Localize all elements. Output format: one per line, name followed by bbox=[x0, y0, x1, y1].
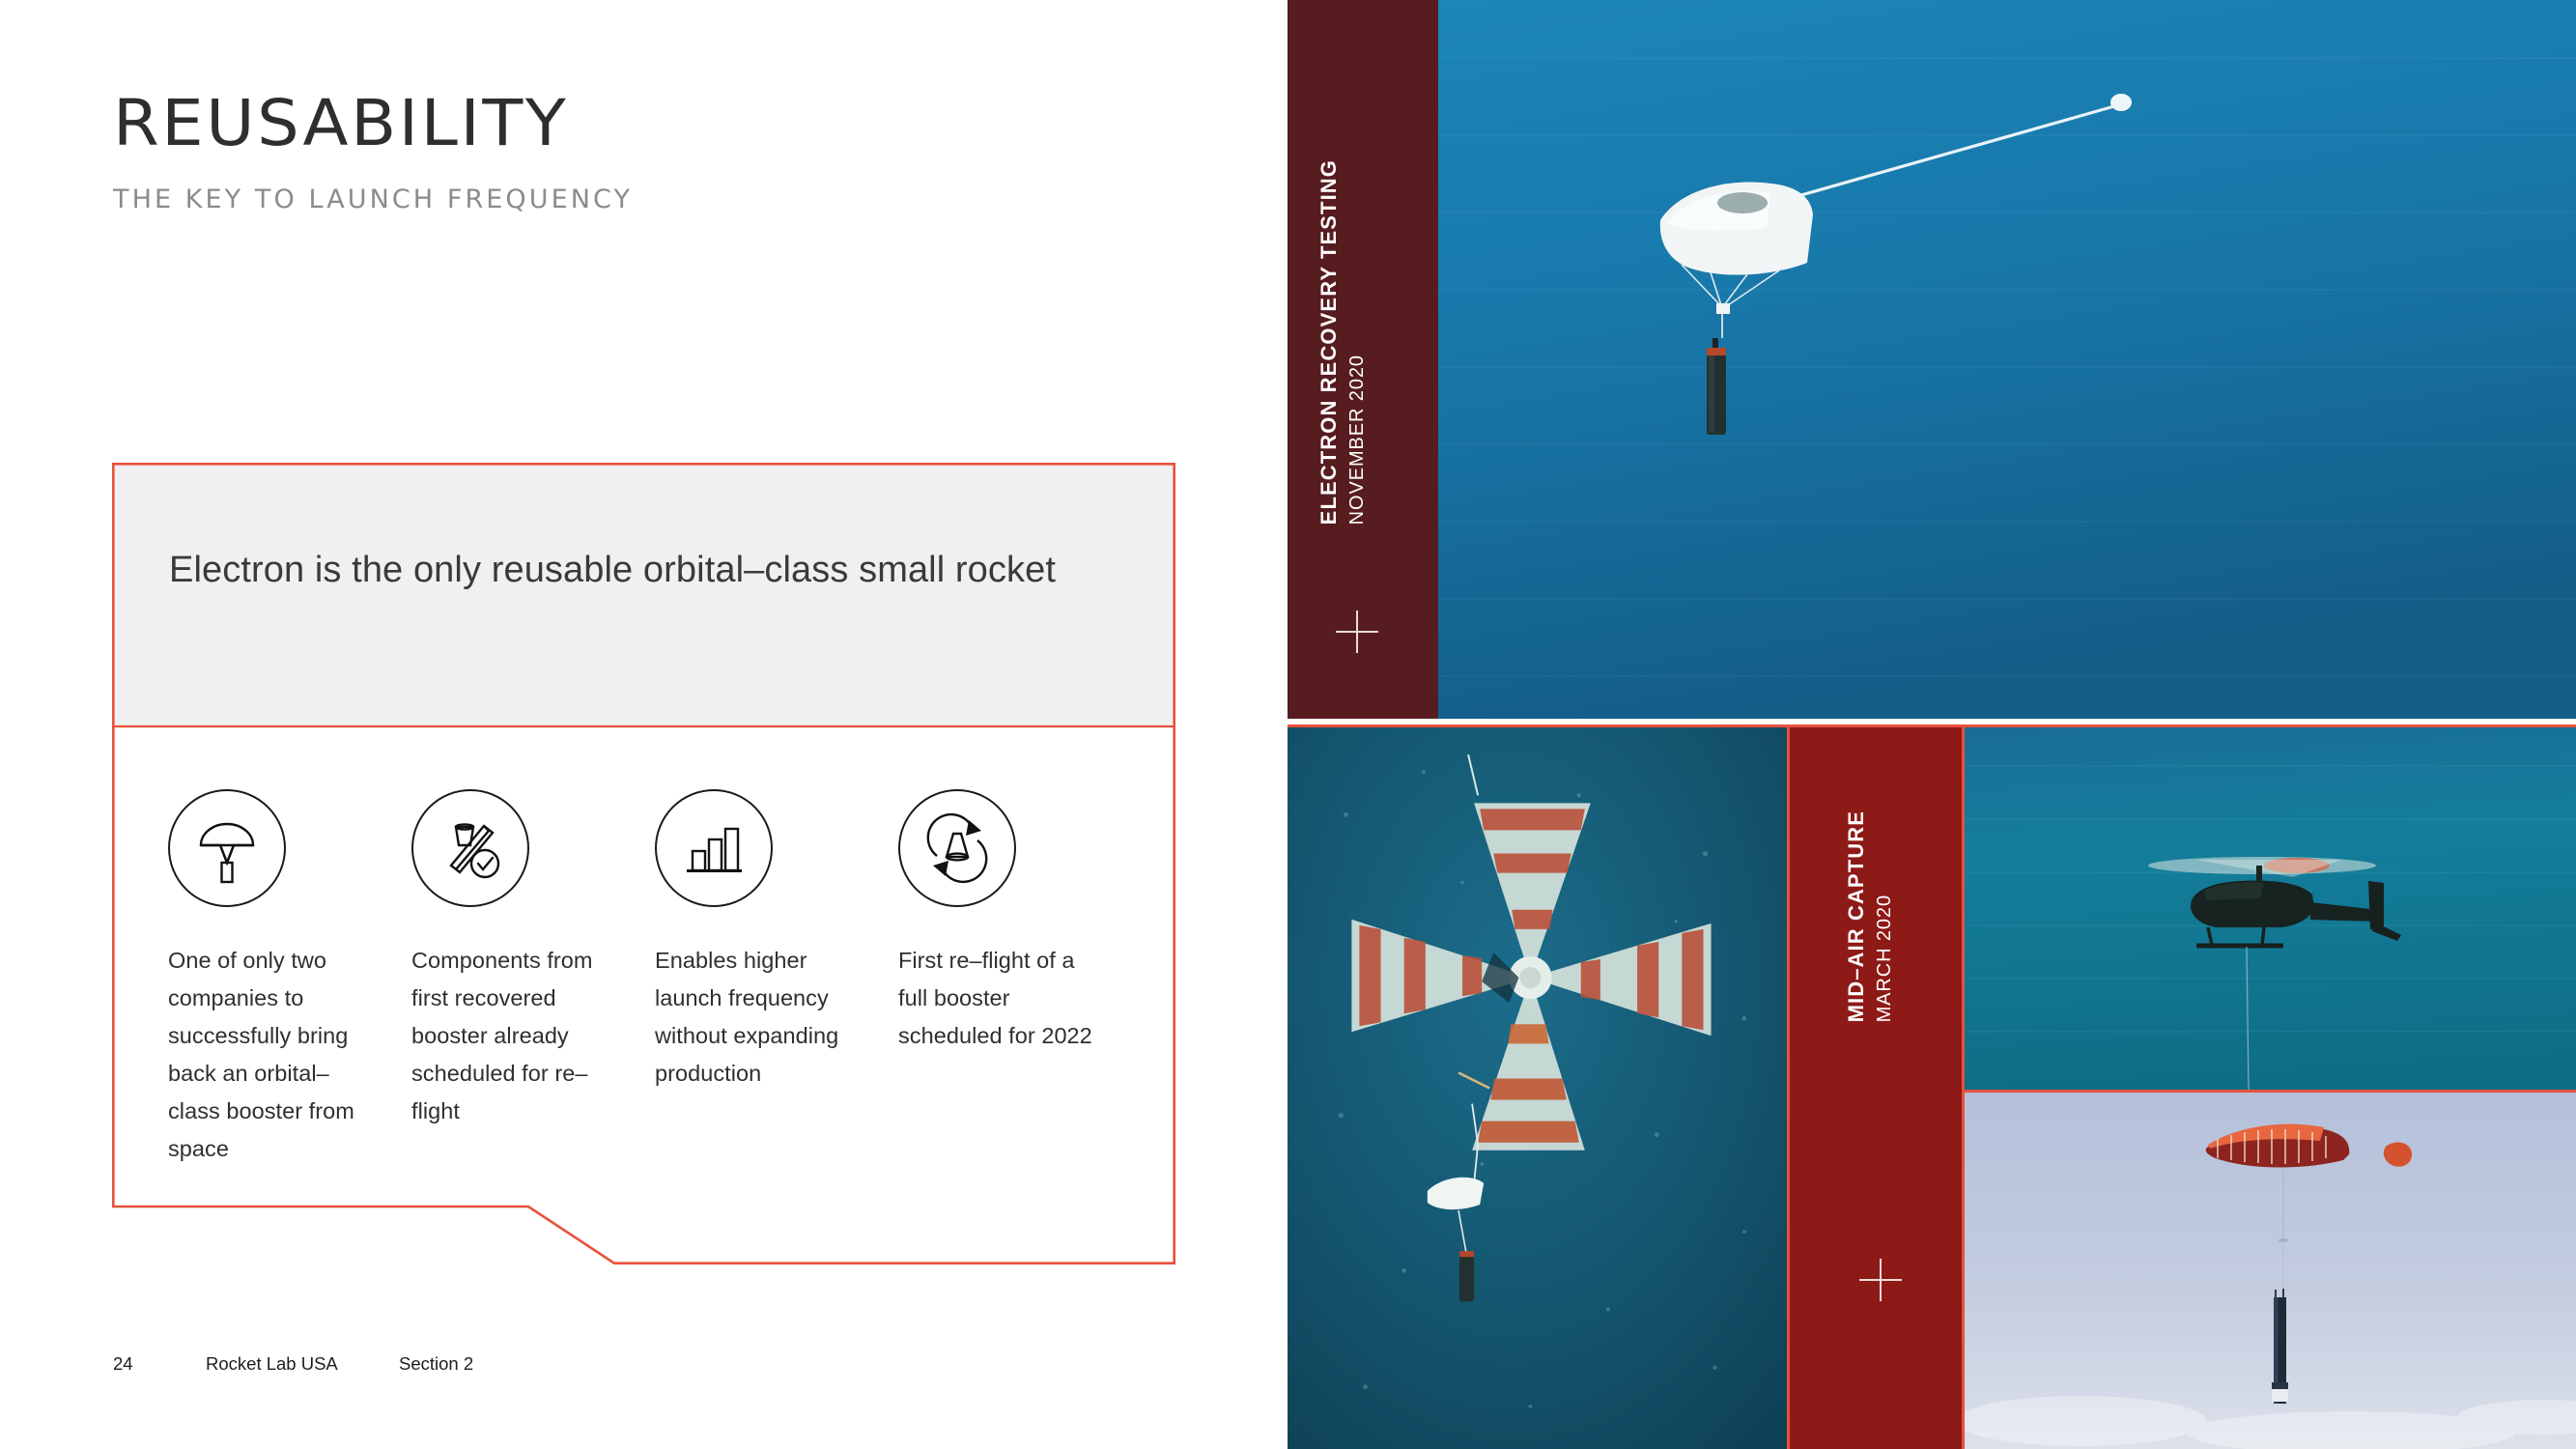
caption-electron-recovery-testing: ELECTRON RECOVERY TESTING NOVEMBER 2020 bbox=[1316, 159, 1369, 525]
card-headline: Electron is the only reusable orbital–cl… bbox=[169, 544, 1096, 597]
footer-company: Rocket Lab USA bbox=[206, 1353, 399, 1375]
caption-date: MARCH 2020 bbox=[1874, 810, 1896, 1022]
caption-title: MID–AIR CAPTURE bbox=[1844, 810, 1869, 1022]
feature-text: Components from first recovered booster … bbox=[411, 942, 609, 1130]
photo-scene bbox=[1288, 727, 1787, 1449]
reuse-engine-icon bbox=[898, 789, 1016, 907]
content-card: Electron is the only reusable orbital–cl… bbox=[112, 463, 1175, 1264]
page-subtitle: THE KEY TO LAUNCH FREQUENCY bbox=[113, 185, 633, 214]
caption-title: ELECTRON RECOVERY TESTING bbox=[1316, 159, 1342, 525]
gallery-caption-strip-midair: MID–AIR CAPTURE MARCH 2020 bbox=[1790, 724, 1962, 1449]
slide-right-gallery: ELECTRON RECOVERY TESTING NOVEMBER 2020 bbox=[1288, 0, 2576, 1449]
footer-section: Section 2 bbox=[399, 1353, 473, 1375]
feature-text: Enables higher launch frequency without … bbox=[655, 942, 853, 1093]
helicopter-over-ocean-photo bbox=[1962, 724, 2576, 1090]
parafoil-over-ocean-photo bbox=[1438, 0, 2576, 719]
footer: 24 Rocket Lab USA Section 2 bbox=[113, 1353, 473, 1375]
booster-under-parafoil-sky-photo bbox=[1962, 1090, 2576, 1449]
caption-date: NOVEMBER 2020 bbox=[1346, 159, 1369, 525]
footer-page-number: 24 bbox=[113, 1353, 206, 1375]
title-block: REUSABILITY THE KEY TO LAUNCH FREQUENCY bbox=[113, 92, 623, 214]
page-title: REUSABILITY bbox=[113, 92, 643, 156]
photo-scene bbox=[1438, 0, 2576, 719]
components-check-icon bbox=[411, 789, 529, 907]
feature-text: One of only two companies to successfull… bbox=[168, 942, 366, 1168]
photo-scene bbox=[1965, 1093, 2576, 1449]
bar-chart-icon bbox=[655, 789, 773, 907]
helicopter-rotor-overhead-photo bbox=[1288, 724, 1790, 1449]
feature-item-reflight: First re–flight of a full booster schedu… bbox=[898, 789, 1142, 1168]
plus-icon[interactable] bbox=[1336, 611, 1378, 653]
feature-item-components: Components from first recovered booster … bbox=[411, 789, 655, 1168]
parachute-icon bbox=[168, 789, 286, 907]
feature-item-parachute: One of only two companies to successfull… bbox=[168, 789, 411, 1168]
gallery-caption-strip-recovery: ELECTRON RECOVERY TESTING NOVEMBER 2020 bbox=[1288, 0, 1438, 719]
feature-item-frequency: Enables higher launch frequency without … bbox=[655, 789, 898, 1168]
caption-mid-air-capture: MID–AIR CAPTURE MARCH 2020 bbox=[1844, 810, 1896, 1022]
plus-icon[interactable] bbox=[1859, 1259, 1902, 1301]
feature-list: One of only two companies to successfull… bbox=[168, 789, 1144, 1168]
feature-text: First re–flight of a full booster schedu… bbox=[898, 942, 1096, 1055]
slide-left-panel: REUSABILITY THE KEY TO LAUNCH FREQUENCY … bbox=[0, 0, 1288, 1449]
photo-scene bbox=[1965, 727, 2576, 1090]
